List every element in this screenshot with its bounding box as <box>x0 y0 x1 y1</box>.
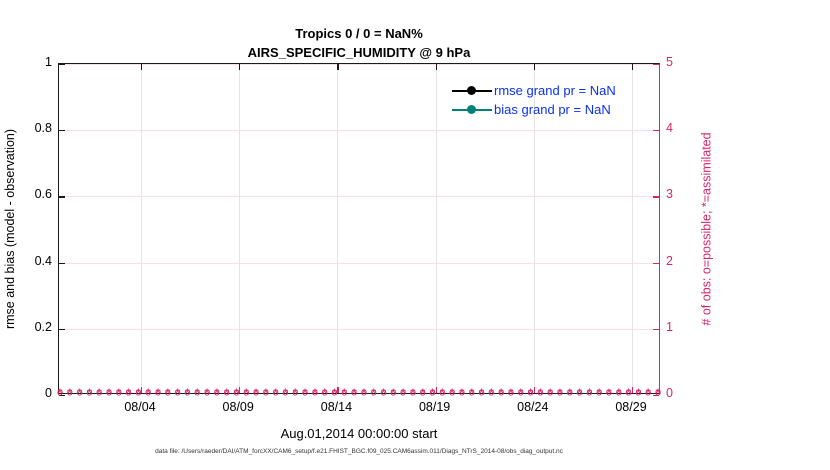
x-tick-label: 08/14 <box>301 400 371 414</box>
legend-filled-circle-icon <box>467 105 476 114</box>
horizontal-gridline <box>59 329 659 330</box>
y-tick-right <box>653 130 659 131</box>
chart-title-line-1: Tropics 0 / 0 = NaN% <box>58 24 660 43</box>
vertical-gridline <box>239 64 240 393</box>
vertical-gridline <box>436 64 437 393</box>
x-tick-label: 08/19 <box>400 400 470 414</box>
x-tick-bottom <box>239 387 240 393</box>
x-tick-label: 08/09 <box>203 400 273 414</box>
horizontal-gridline <box>59 130 659 131</box>
x-tick-top <box>239 64 240 70</box>
y-tick-right <box>653 196 659 197</box>
legend-label: bias grand pr = NaN <box>492 102 611 117</box>
legend-filled-circle-icon <box>467 86 476 95</box>
y-tick-right <box>653 263 659 264</box>
legend-label: rmse grand pr = NaN <box>492 83 616 98</box>
chart-title-block: Tropics 0 / 0 = NaN% AIRS_SPECIFIC_HUMID… <box>58 24 660 62</box>
x-tick-label: 08/04 <box>105 400 175 414</box>
y-tick-right <box>653 64 659 65</box>
y-tick-right <box>653 395 659 396</box>
x-tick-label: 08/24 <box>498 400 568 414</box>
y-tick-left <box>59 395 65 396</box>
y-tick-right <box>653 329 659 330</box>
right-axis-title-text: # of obs: o=possible; *=assimilated <box>700 132 714 325</box>
x-tick-top <box>632 64 633 70</box>
legend-item[interactable]: bias grand pr = NaN <box>452 100 652 119</box>
right-axis-title: # of obs: o=possible; *=assimilated <box>697 63 717 394</box>
chart-figure: Tropics 0 / 0 = NaN% AIRS_SPECIFIC_HUMID… <box>0 0 830 470</box>
legend-item[interactable]: rmse grand pr = NaN <box>452 81 652 100</box>
horizontal-gridline <box>59 263 659 264</box>
x-tick-top <box>141 64 142 70</box>
y-tick-left <box>59 196 65 197</box>
x-axis-title: Aug.01,2014 00:00:00 start <box>58 426 660 441</box>
y-tick-left <box>59 263 65 264</box>
vertical-gridline <box>337 64 338 393</box>
x-tick-bottom <box>436 387 437 393</box>
x-tick-bottom <box>337 387 338 393</box>
y-tick-left <box>59 64 65 65</box>
x-tick-label: 08/29 <box>596 400 666 414</box>
x-tick-bottom <box>141 387 142 393</box>
left-axis-title-text: rmse and bias (model - observation) <box>3 128 17 328</box>
horizontal-gridline <box>59 64 659 65</box>
left-axis-title: rmse and bias (model - observation) <box>0 63 20 394</box>
x-tick-top <box>534 64 535 70</box>
horizontal-gridline <box>59 196 659 197</box>
x-tick-top <box>337 64 338 70</box>
chart-title-line-2: AIRS_SPECIFIC_HUMIDITY @ 9 hPa <box>58 43 660 62</box>
legend-line-sample <box>452 104 492 116</box>
x-tick-top <box>436 64 437 70</box>
data-file-caption: data file: /Users/raeder/DAI/ATM_forcXX/… <box>58 448 660 455</box>
legend-line-sample <box>452 85 492 97</box>
x-tick-bottom <box>632 387 633 393</box>
y-tick-left <box>59 130 65 131</box>
chart-legend: rmse grand pr = NaNbias grand pr = NaN <box>452 81 652 119</box>
vertical-gridline <box>141 64 142 393</box>
y-tick-left <box>59 329 65 330</box>
x-tick-bottom <box>534 387 535 393</box>
